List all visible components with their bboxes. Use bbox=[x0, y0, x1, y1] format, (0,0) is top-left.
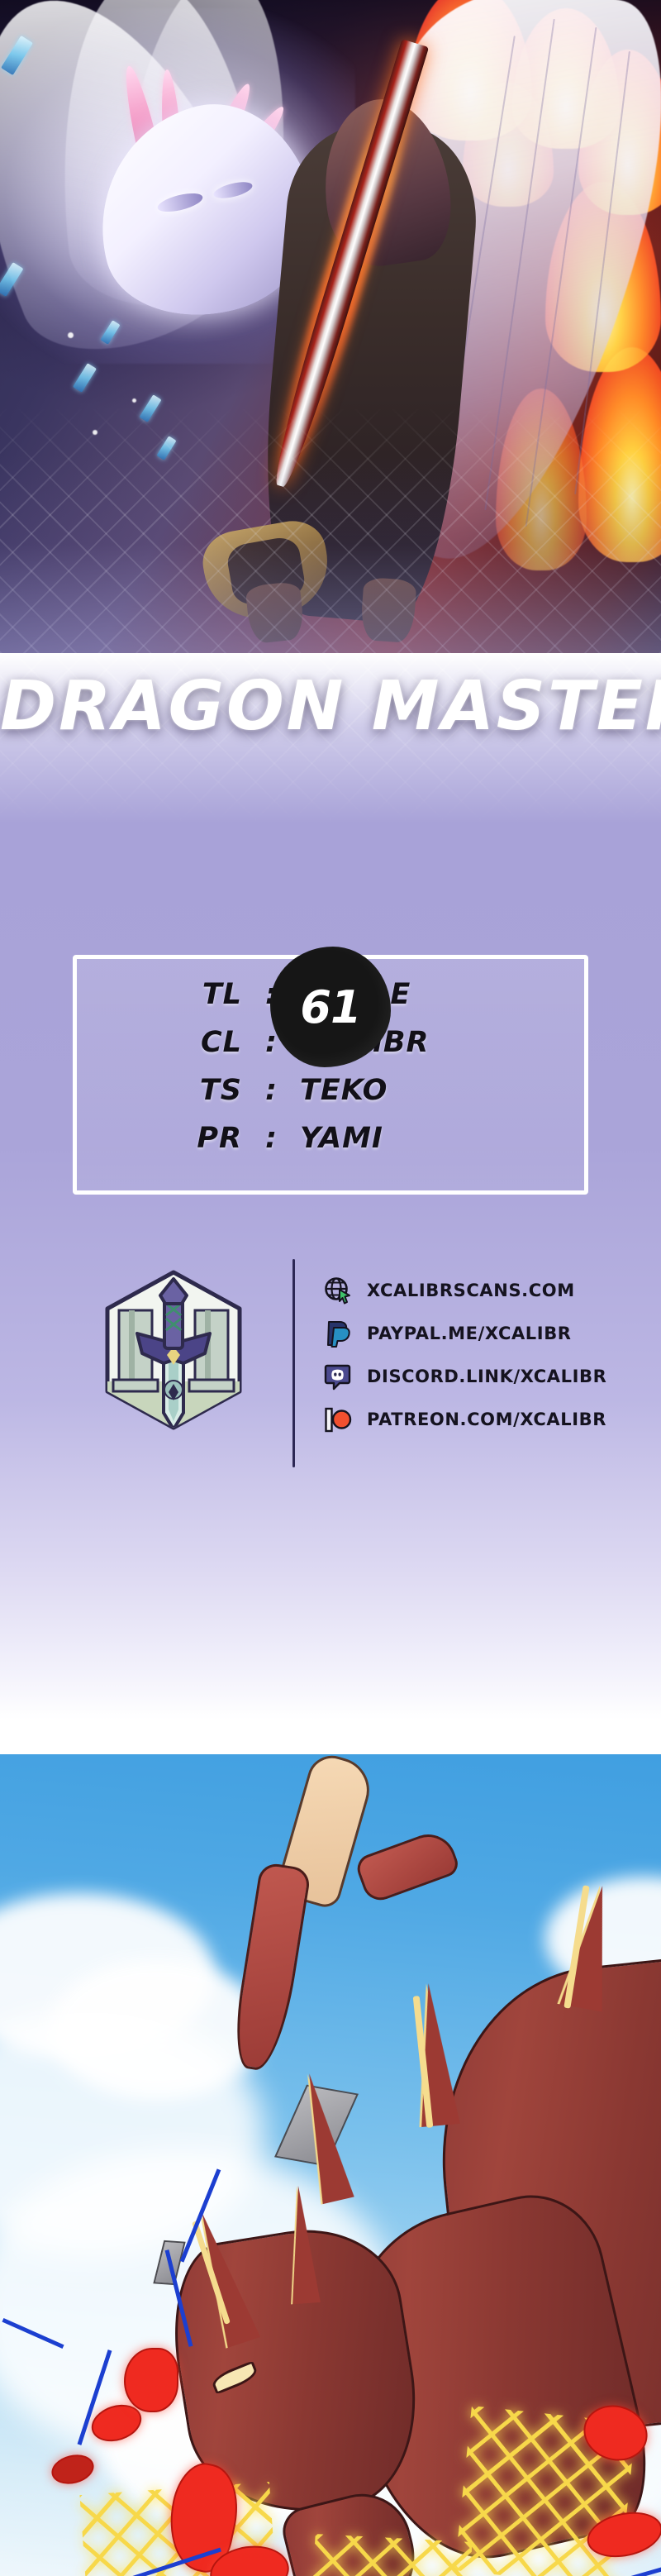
comic-panel-1 bbox=[0, 1720, 661, 2576]
discord-icon bbox=[324, 1362, 352, 1391]
link-row-patreon[interactable]: PATREON.COM/XCALIBR bbox=[324, 1400, 654, 1439]
chapter-number: 61 bbox=[270, 947, 391, 1067]
credit-role: TS bbox=[77, 1074, 242, 1107]
blood-splatter bbox=[124, 2348, 178, 2412]
credit-role: PR bbox=[77, 1122, 242, 1155]
bottom-fade bbox=[0, 455, 661, 653]
credit-name: YAMI bbox=[300, 1122, 584, 1155]
link-row-website[interactable]: XCALIBRSCANS.COM bbox=[324, 1271, 654, 1310]
paypal-icon bbox=[324, 1319, 352, 1348]
credit-name: TEKO bbox=[300, 1074, 584, 1107]
links-list: XCALIBRSCANS.COM PAYPAL.ME/XCALIBR D bbox=[324, 1271, 654, 1443]
link-row-discord[interactable]: DISCORD.LINK/XCALIBR bbox=[324, 1357, 654, 1396]
light-spark bbox=[68, 332, 74, 338]
patreon-icon bbox=[324, 1405, 352, 1433]
credit-role: CL bbox=[77, 1026, 242, 1059]
energy-net bbox=[313, 2534, 473, 2576]
panel-gutter bbox=[0, 1720, 661, 1754]
credit-colon: : bbox=[242, 1074, 300, 1107]
ice-shard bbox=[73, 363, 97, 393]
link-label: PAYPAL.ME/XCALIBR bbox=[367, 1324, 572, 1343]
scanlation-links-block: XCALIBRSCANS.COM PAYPAL.ME/XCALIBR D bbox=[0, 1252, 661, 1476]
credit-row: PR : YAMI bbox=[77, 1122, 584, 1170]
title-banner: DRAGON MASTER bbox=[0, 661, 661, 752]
credit-colon: : bbox=[242, 1122, 300, 1155]
page-title: DRAGON MASTER bbox=[0, 661, 661, 752]
vertical-divider bbox=[292, 1259, 295, 1467]
credit-role: TL bbox=[77, 978, 242, 1011]
link-label: PATREON.COM/XCALIBR bbox=[367, 1410, 606, 1429]
globe-icon bbox=[324, 1276, 352, 1305]
character-boot bbox=[354, 1827, 462, 1906]
link-row-paypal[interactable]: PAYPAL.ME/XCALIBR bbox=[324, 1314, 654, 1353]
light-spark bbox=[132, 398, 136, 403]
xcalibr-sword-hexagon-logo bbox=[86, 1267, 261, 1443]
chapter-number-badge: 61 bbox=[270, 947, 391, 1067]
credit-row: TS : TEKO bbox=[77, 1074, 584, 1122]
link-label: DISCORD.LINK/XCALIBR bbox=[367, 1367, 606, 1386]
link-label: XCALIBRSCANS.COM bbox=[367, 1281, 575, 1300]
blood-splatter bbox=[49, 2450, 97, 2488]
cover-artwork bbox=[0, 0, 661, 653]
character-boot bbox=[229, 1862, 311, 2074]
